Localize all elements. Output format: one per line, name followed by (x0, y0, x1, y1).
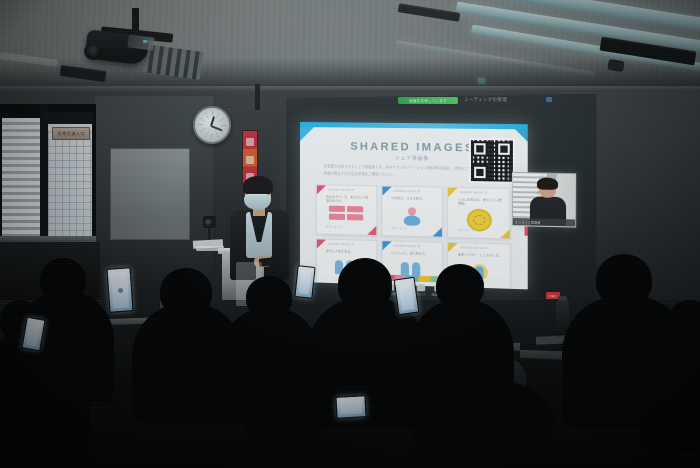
wall-clock-icon (193, 106, 231, 144)
window-grid (48, 130, 92, 238)
qr-code-icon[interactable] (469, 138, 515, 184)
window-header (44, 112, 94, 124)
card-text: みんなでつくる、あたらしい日常のかたち。 (326, 195, 370, 205)
card-footer: ダウンロード (391, 228, 436, 233)
card-corner-icon (448, 188, 457, 197)
projector-led-icon (143, 40, 147, 43)
shared-slide: SHARED IMAGES シェア用画像 本事業で活用できるシェア用画像です。S… (300, 122, 528, 289)
qr-finder-icon (496, 141, 512, 157)
window-control-icon (546, 97, 552, 102)
list-item (414, 380, 554, 468)
slide-corner-accent-icon (515, 129, 528, 142)
card-heading: SHARED IMAGE 03 (460, 191, 506, 196)
remote-participant-video-tile[interactable]: オンライン登壇者 (512, 172, 576, 228)
card-footer: ダウンロード (326, 226, 370, 231)
card-corner-icon (382, 187, 391, 196)
qr-finder-icon (472, 165, 488, 181)
papers-on-lectern (193, 239, 223, 249)
table-row[interactable]: SHARED IMAGE 01 みんなでつくる、あたらしい日常のかたち。 ダウン… (316, 184, 377, 236)
lecture-room-photo: 非常用進入口 画面を共有しています ミーティングの管理 SHARED IMAGE… (0, 0, 700, 468)
smartphone[interactable] (106, 267, 133, 313)
card-heading: SHARED IMAGE 04 (328, 243, 372, 248)
card-text: いっしょに、はじめよう。 (391, 251, 436, 257)
card-corner-icon (448, 243, 457, 252)
person-illustration-icon (402, 207, 423, 226)
clock-ticks (198, 111, 226, 139)
participant-hair (537, 177, 558, 189)
card-text: つながる、ささえあう。 (391, 196, 436, 201)
card-heading: SHARED IMAGE 06 (460, 246, 506, 251)
table-row[interactable]: SHARED IMAGE 02 つながる、ささえあう。 ダウンロード (381, 186, 443, 238)
bars-illustration-icon (329, 206, 363, 221)
card-text: まちと人をむすぶ。 (326, 249, 370, 255)
emergency-entrance-sign: 非常用進入口 (52, 127, 90, 140)
table-row[interactable]: SHARED IMAGE 03 くらしを支える、あたらしい選択肢。 ダウンロード (447, 187, 510, 240)
meeting-manage-label: ミーティングの管理 (464, 97, 507, 103)
smartphone[interactable] (294, 265, 315, 299)
card-heading: SHARED IMAGE 02 (393, 190, 438, 195)
camera-lens (205, 219, 212, 226)
slide-top-accent-bar (300, 122, 528, 129)
card-footer: ダウンロード (458, 229, 504, 234)
screen-drop-rod (255, 84, 260, 110)
card-heading: SHARED IMAGE 01 (328, 189, 372, 194)
window-sign-label: 非常用進入口 (57, 131, 85, 137)
card-corner-icon (317, 239, 326, 248)
window-blinds (2, 118, 40, 236)
list-item (190, 440, 380, 468)
whiteboard (110, 148, 190, 240)
card-text: 未来へつづく、しくみづくり。 (458, 252, 504, 258)
screen-share-status-text: 画面を共有しています (409, 98, 447, 103)
camera-shutter-icon (117, 288, 122, 293)
list-item (640, 334, 700, 454)
card-corner-icon (317, 185, 326, 194)
presenter-hair (243, 176, 273, 195)
qr-finder-icon (472, 141, 488, 157)
smartphone[interactable] (335, 395, 366, 419)
participant-name-label: オンライン登壇者 (515, 220, 541, 225)
bottle-cap (558, 296, 567, 301)
window-mullion (40, 104, 48, 242)
chat-icon (417, 284, 425, 291)
face-mask-icon (244, 194, 271, 209)
screen-share-status-bar: 画面を共有しています (398, 97, 458, 104)
card-text: くらしを支える、あたらしい選択肢。 (458, 197, 504, 207)
card-heading: SHARED IMAGE 05 (393, 244, 438, 249)
card-corner-icon (382, 241, 391, 250)
ceiling-wall-edge (0, 86, 700, 92)
